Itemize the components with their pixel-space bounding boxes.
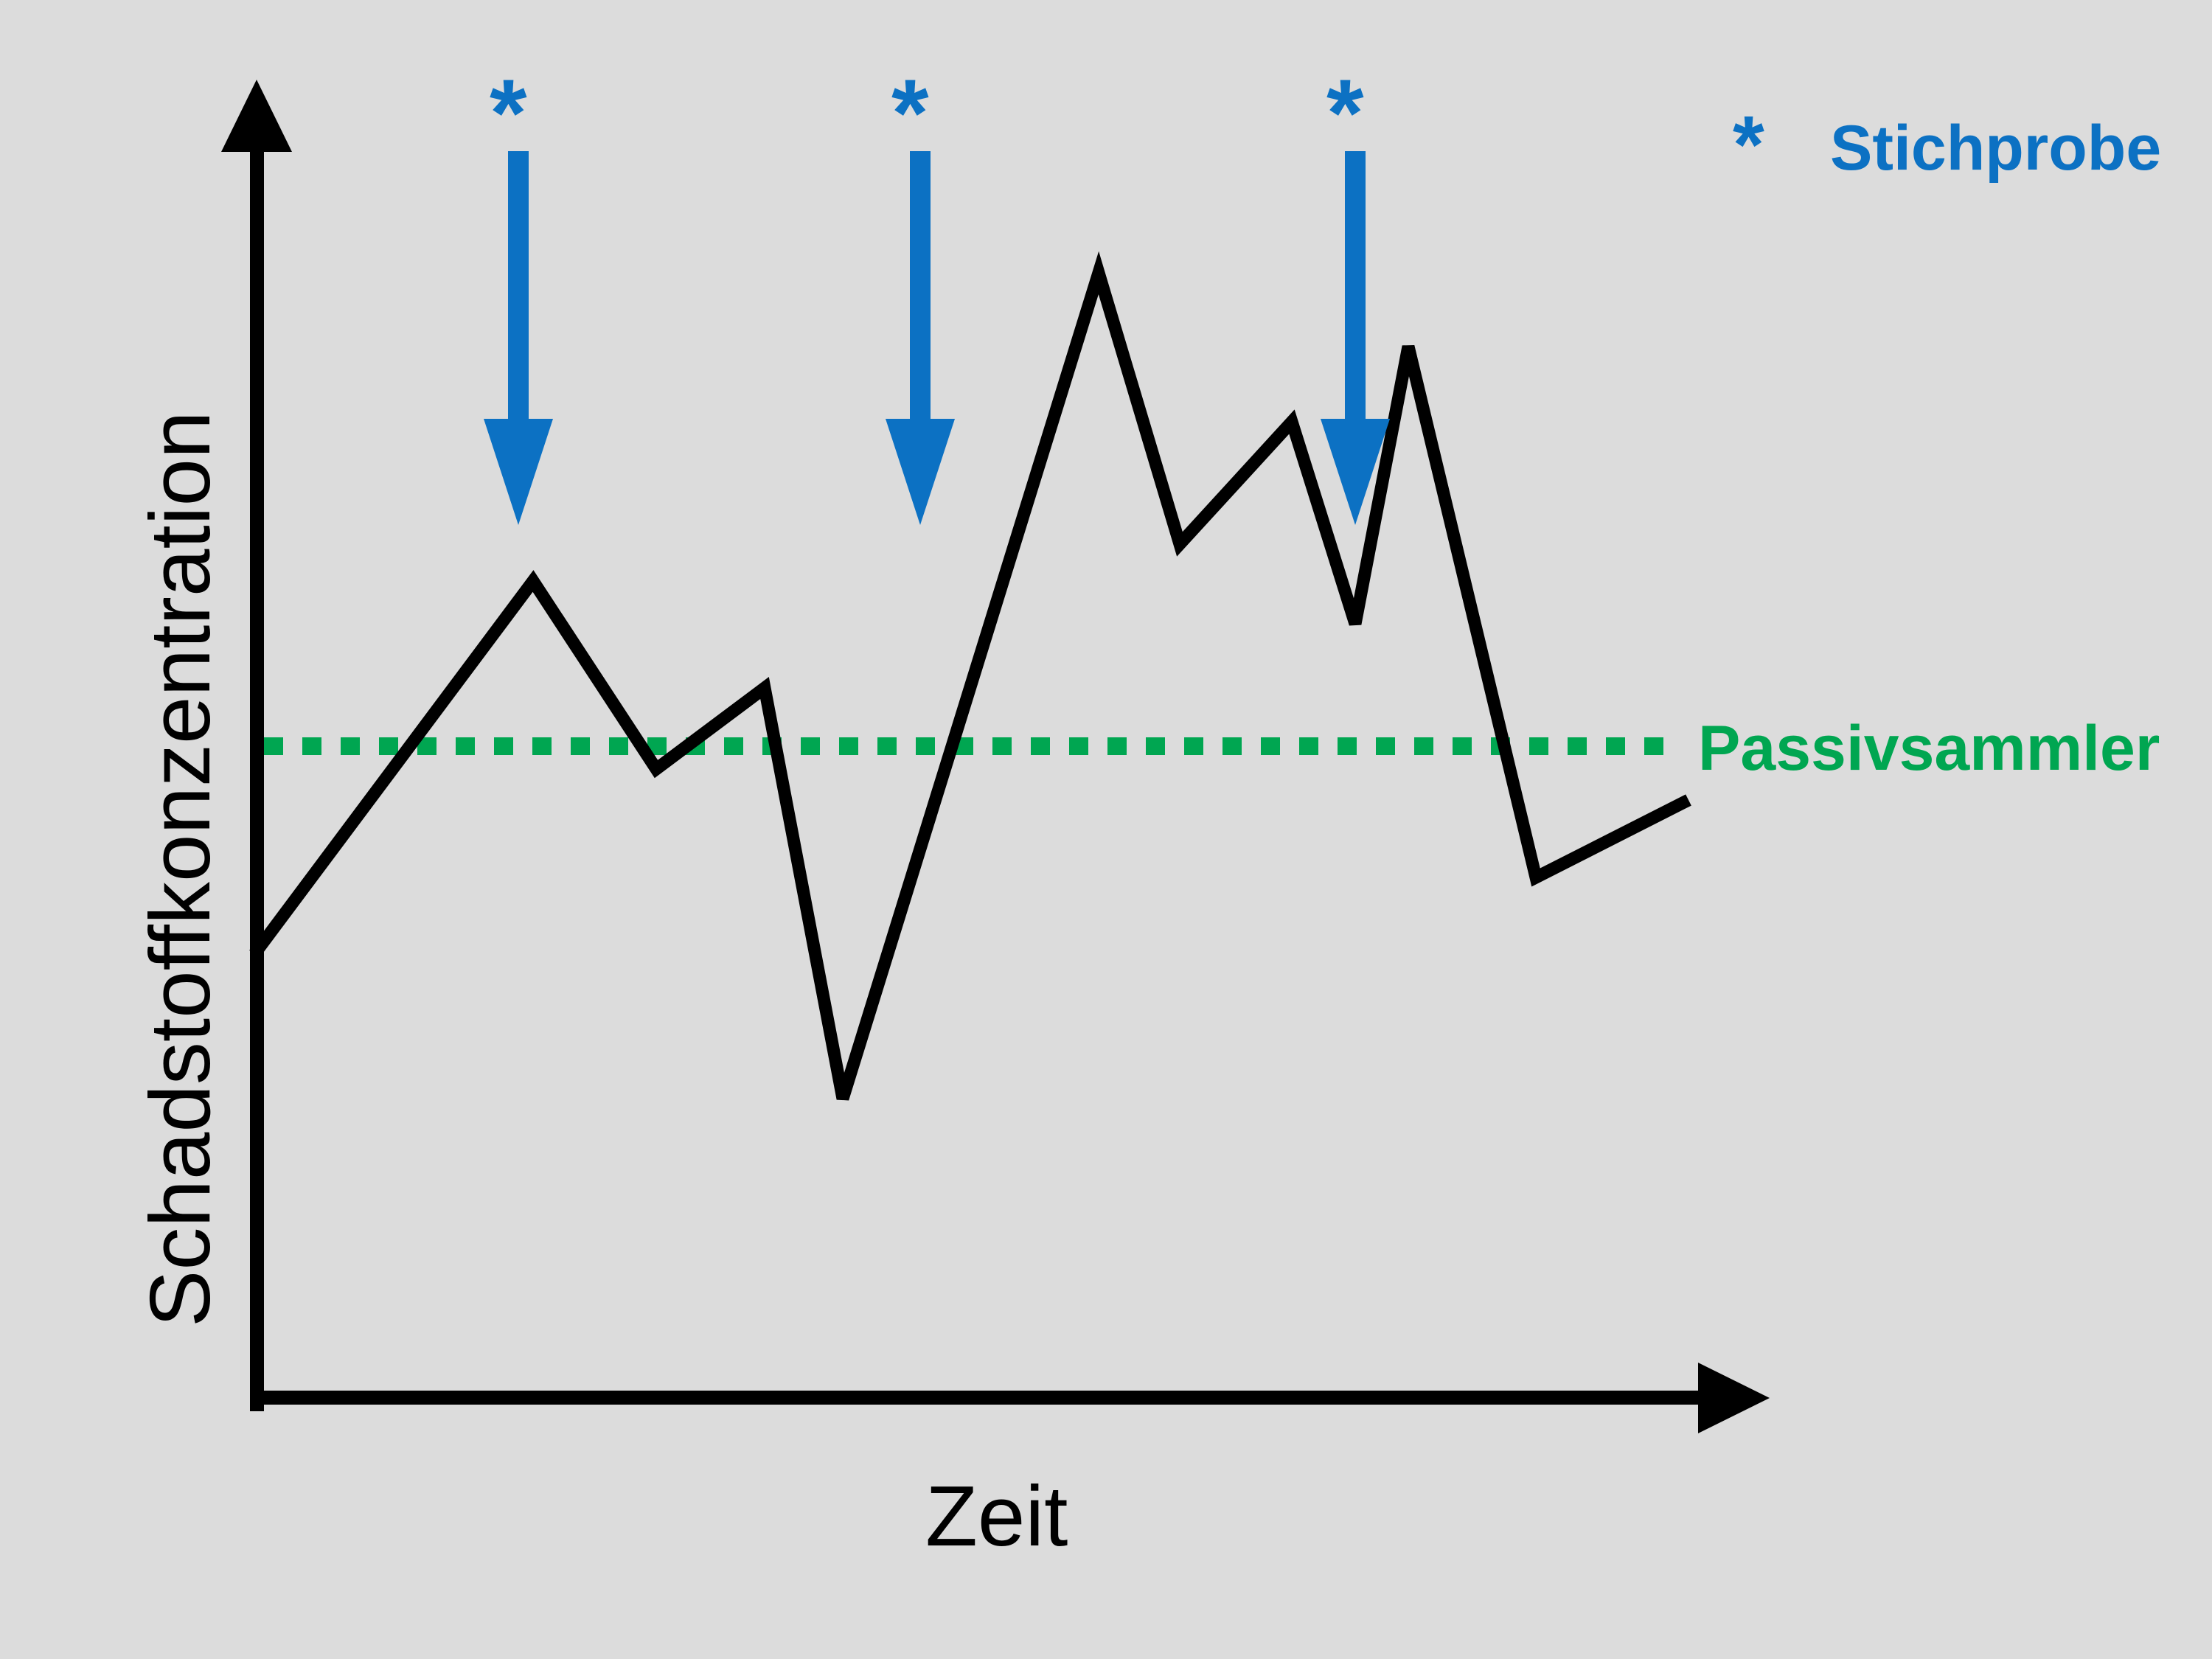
- chart-background: [0, 0, 2212, 1659]
- stichprobe-arrow-2-shaft: [910, 151, 931, 431]
- stichprobe-asterisk-2-icon: *: [891, 65, 929, 161]
- stichprobe-arrow-3-shaft: [1345, 151, 1366, 431]
- x-axis-title: Zeit: [925, 1473, 1068, 1559]
- stichprobe-asterisk-3-icon: *: [1326, 65, 1364, 161]
- x-axis-line: [250, 1391, 1701, 1405]
- y-axis-line: [250, 145, 264, 1411]
- chart-canvas: [0, 0, 2212, 1659]
- chart-figure: * * * Schadstoffkonzentration Zeit * Sti…: [0, 0, 2212, 1659]
- legend-stichprobe-label: Stichprobe: [1830, 116, 2161, 180]
- y-axis-title: Schadstoffkonzentration: [137, 411, 223, 1327]
- passivsammler-label: Passivsammler: [1698, 717, 2160, 780]
- stichprobe-arrow-1-shaft: [508, 151, 529, 431]
- stichprobe-asterisk-1-icon: *: [490, 65, 527, 161]
- legend-stichprobe-marker-icon: *: [1733, 105, 1764, 186]
